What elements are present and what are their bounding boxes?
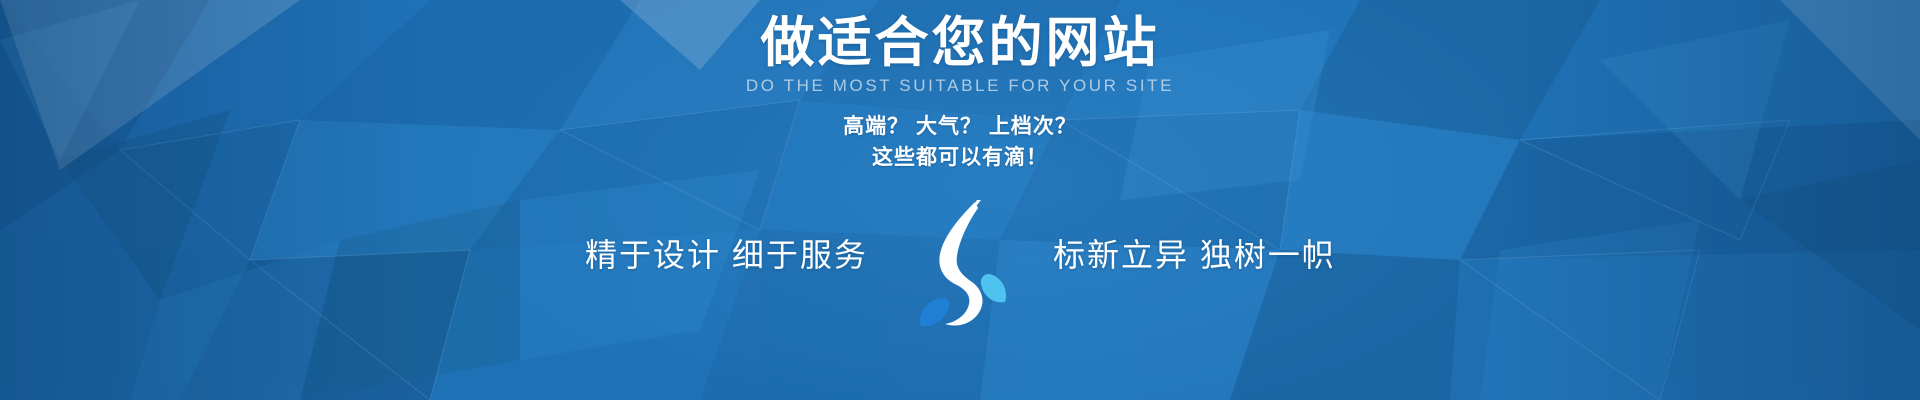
slogan-left: 精于设计 细于服务 bbox=[585, 230, 905, 276]
slogan-row: 精于设计 细于服务 标新立异 独树一帜 bbox=[0, 178, 1920, 328]
banner-subtitle-english: DO THE MOST SUITABLE FOR YOUR SITE bbox=[746, 76, 1174, 96]
banner-highlight-lines: 高端？ 大气？ 上档次？ 这些都可以有滴！ bbox=[843, 112, 1077, 173]
highlight-line-1: 高端？ 大气？ 上档次？ bbox=[843, 112, 1077, 142]
slogan-right: 标新立异 独树一帜 bbox=[1015, 230, 1335, 276]
hero-banner: 做适合您的网站 DO THE MOST SUITABLE FOR YOUR SI… bbox=[0, 0, 1920, 400]
banner-title: 做适合您的网站 bbox=[761, 14, 1160, 72]
highlight-line-2: 这些都可以有滴！ bbox=[843, 143, 1077, 173]
swan-leaf-logo-icon bbox=[905, 198, 1015, 328]
